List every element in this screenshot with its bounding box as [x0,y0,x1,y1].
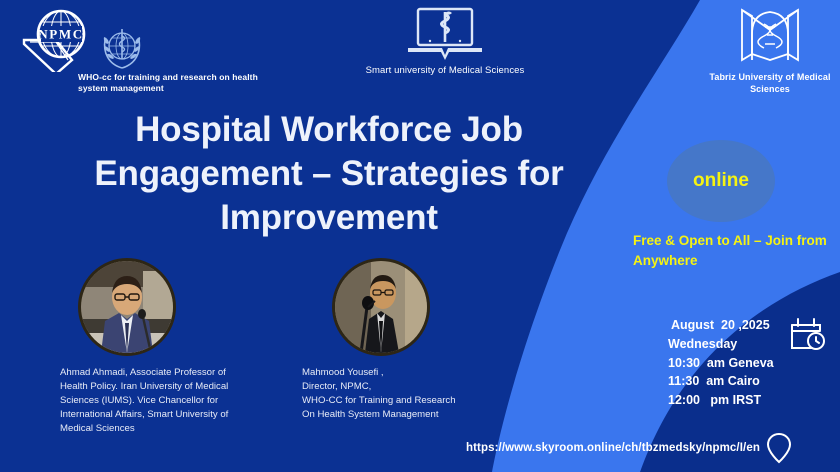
speaker-card-2: Mahmood Yousefi , Director, NPMC, WHO-CC… [302,258,517,422]
tabriz-dna-arch-logo [734,4,806,68]
logo-npmc-caption: WHO-cc for training and research on heal… [16,72,268,93]
svg-text:NPMC: NPMC [38,27,83,42]
logo-tabriz-caption: Tabriz University of Medical Sciences [700,72,840,95]
online-badge-label: online [693,170,749,192]
free-open-note: Free & Open to All – Join from Anywhere [633,231,833,270]
location-pin-icon [766,432,792,464]
laptop-asclepius-book-logo [402,6,488,62]
speaker-2-bio: Mahmood Yousefi , Director, NPMC, WHO-CC… [302,366,517,422]
logo-smart-university-caption: Smart university of Medical Sciences [330,65,560,77]
event-url[interactable]: https://www.skyroom.online/ch/tbzmedsky/… [466,442,760,454]
avatar-speaker-1 [78,258,176,356]
logo-npmc-block: NPMC [16,6,268,93]
speaker-1-bio: Ahmad Ahmadi, Associate Professor of Hea… [60,366,275,436]
event-url-row[interactable]: https://www.skyroom.online/ch/tbzmedsky/… [466,432,792,464]
event-time-irst: 12:00 pm IRST [668,391,788,410]
event-datetime-block: August 20 ,2025 Wednesday 10:30 am Genev… [668,316,788,410]
page-title: Hospital Workforce Job Engagement – Stra… [46,108,612,239]
speaker-card-1: Ahmad Ahmadi, Associate Professor of Hea… [60,258,275,436]
who-emblem-logo [100,26,144,70]
logo-tabriz-block: Tabriz University of Medical Sciences [700,4,840,95]
avatar-speaker-2 [332,258,430,356]
event-time-cairo: 11:30 am Cairo [668,372,788,391]
webinar-poster: NPMC [0,0,840,472]
logo-smart-university-block: Smart university of Medical Sciences [330,6,560,77]
online-badge: online [667,140,775,222]
event-time-geneva: 10:30 am Geneva [668,354,788,373]
event-date: August 20 ,2025 [668,316,788,335]
calendar-clock-icon [788,316,826,357]
event-weekday: Wednesday [668,335,788,354]
